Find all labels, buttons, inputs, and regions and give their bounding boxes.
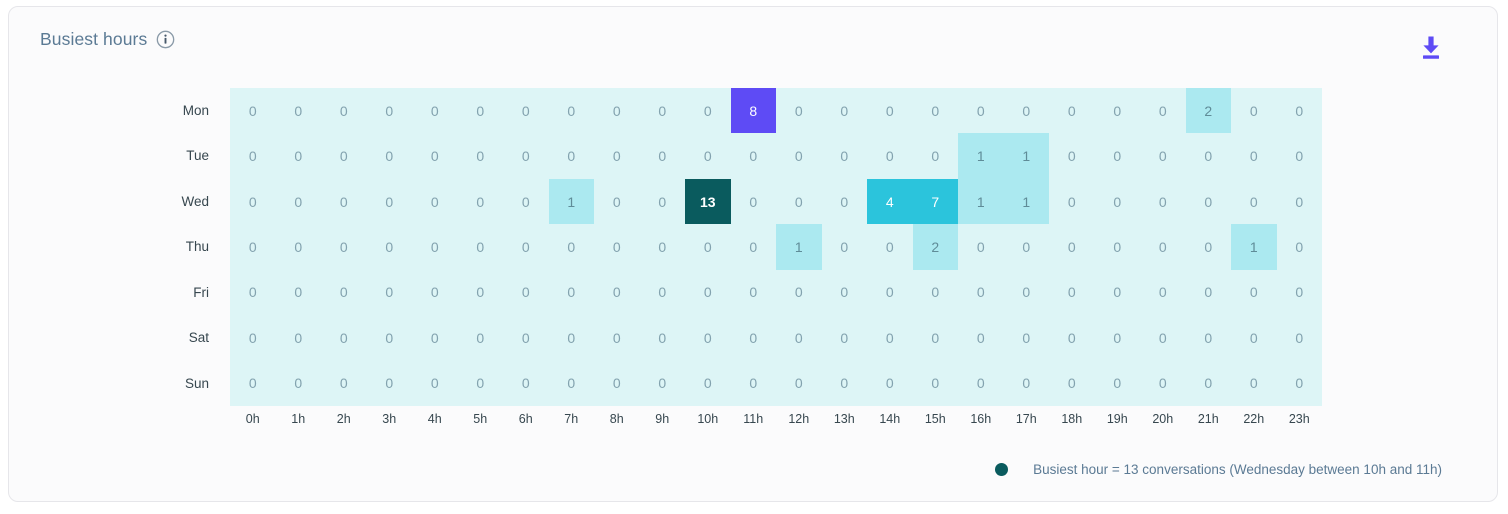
heatmap-cell[interactable]: 0 xyxy=(1140,270,1186,315)
x-axis-label: 15h xyxy=(913,409,959,433)
heatmap-cell[interactable]: 0 xyxy=(321,361,367,406)
heatmap-cell[interactable]: 0 xyxy=(1095,88,1141,133)
heatmap-cell[interactable]: 0 xyxy=(1231,179,1277,224)
heatmap-cell[interactable]: 0 xyxy=(458,179,504,224)
heatmap-cell[interactable]: 0 xyxy=(412,270,458,315)
heatmap-cell[interactable]: 0 xyxy=(1277,133,1323,178)
heatmap-cell[interactable]: 0 xyxy=(1049,224,1095,269)
heatmap-cell[interactable]: 0 xyxy=(1095,179,1141,224)
x-axis-label: 16h xyxy=(958,409,1004,433)
heatmap-cell[interactable]: 0 xyxy=(1140,179,1186,224)
heatmap-cell[interactable]: 0 xyxy=(731,224,777,269)
heatmap-cell[interactable]: 0 xyxy=(1277,315,1323,360)
x-axis-label: 14h xyxy=(867,409,913,433)
heatmap-cell[interactable]: 0 xyxy=(1095,361,1141,406)
heatmap-cell[interactable]: 0 xyxy=(685,224,731,269)
heatmap-cell[interactable]: 0 xyxy=(230,315,276,360)
heatmap-cell[interactable]: 0 xyxy=(412,315,458,360)
heatmap-cell[interactable]: 0 xyxy=(685,315,731,360)
heatmap-cell[interactable]: 0 xyxy=(1140,315,1186,360)
heatmap-cell[interactable]: 0 xyxy=(321,179,367,224)
heatmap-cell[interactable]: 0 xyxy=(458,133,504,178)
heatmap-cell[interactable]: 0 xyxy=(913,361,959,406)
x-axis-labels: 0h1h2h3h4h5h6h7h8h9h10h11h12h13h14h15h16… xyxy=(230,409,1322,433)
heatmap-cell[interactable]: 0 xyxy=(1095,133,1141,178)
heatmap-cell[interactable]: 0 xyxy=(503,133,549,178)
heatmap-cell[interactable]: 0 xyxy=(503,224,549,269)
heatmap-cell[interactable]: 0 xyxy=(640,88,686,133)
heatmap-cell[interactable]: 0 xyxy=(276,224,322,269)
download-button[interactable] xyxy=(1420,36,1442,60)
heatmap-cell[interactable]: 0 xyxy=(776,133,822,178)
x-axis-label: 0h xyxy=(230,409,276,433)
heatmap-cell[interactable]: 0 xyxy=(503,361,549,406)
y-axis-label: Tue xyxy=(159,133,209,178)
heatmap-cell[interactable]: 0 xyxy=(276,270,322,315)
heatmap-cell[interactable]: 0 xyxy=(1049,270,1095,315)
heatmap-cell[interactable]: 0 xyxy=(321,315,367,360)
heatmap-cell[interactable]: 0 xyxy=(776,270,822,315)
heatmap-cell[interactable]: 1 xyxy=(1004,179,1050,224)
heatmap-cell[interactable]: 0 xyxy=(1004,88,1050,133)
legend-label: Busiest hour = 13 conversations (Wednesd… xyxy=(1033,462,1442,477)
heatmap-cell[interactable]: 0 xyxy=(913,133,959,178)
heatmap-cell[interactable]: 0 xyxy=(276,315,322,360)
heatmap-cell[interactable]: 0 xyxy=(1095,270,1141,315)
heatmap-cell[interactable]: 0 xyxy=(458,224,504,269)
heatmap-cell[interactable]: 0 xyxy=(594,88,640,133)
heatmap-cell[interactable]: 0 xyxy=(776,88,822,133)
heatmap-cell[interactable]: 0 xyxy=(321,88,367,133)
heatmap-cell[interactable]: 0 xyxy=(822,179,868,224)
x-axis-label: 11h xyxy=(731,409,777,433)
heatmap-cell[interactable]: 0 xyxy=(776,361,822,406)
heatmap-cell[interactable]: 0 xyxy=(1095,315,1141,360)
heatmap-cell[interactable]: 0 xyxy=(594,133,640,178)
heatmap-cell[interactable]: 0 xyxy=(867,361,913,406)
heatmap-cell[interactable]: 0 xyxy=(958,361,1004,406)
heatmap-cell[interactable]: 0 xyxy=(958,88,1004,133)
heatmap-cell[interactable]: 0 xyxy=(1004,270,1050,315)
heatmap-cell[interactable]: 0 xyxy=(640,224,686,269)
heatmap-cell[interactable]: 0 xyxy=(1004,315,1050,360)
heatmap-cell[interactable]: 0 xyxy=(913,270,959,315)
x-axis-label: 9h xyxy=(640,409,686,433)
heatmap-cell[interactable]: 0 xyxy=(276,133,322,178)
heatmap-cell[interactable]: 0 xyxy=(276,179,322,224)
heatmap-cell[interactable]: 0 xyxy=(230,224,276,269)
heatmap-cell[interactable]: 0 xyxy=(1140,88,1186,133)
heatmap-cell[interactable]: 0 xyxy=(276,88,322,133)
heatmap: MonTueWedThuFriSatSun 000000000008000000… xyxy=(9,71,1497,451)
heatmap-cell[interactable]: 0 xyxy=(1186,361,1232,406)
heatmap-cell[interactable]: 0 xyxy=(958,224,1004,269)
heatmap-cell[interactable]: 0 xyxy=(822,88,868,133)
heatmap-cell[interactable]: 0 xyxy=(412,361,458,406)
card-header: Busiest hours xyxy=(9,7,1497,71)
heatmap-cell[interactable]: 0 xyxy=(230,361,276,406)
info-circle-icon[interactable] xyxy=(156,30,175,49)
x-axis-label: 13h xyxy=(822,409,868,433)
heatmap-cell[interactable]: 0 xyxy=(1231,315,1277,360)
heatmap-cell[interactable]: 0 xyxy=(1186,224,1232,269)
heatmap-cell[interactable]: 0 xyxy=(685,361,731,406)
heatmap-cell[interactable]: 0 xyxy=(1277,361,1323,406)
heatmap-cell[interactable]: 0 xyxy=(1140,133,1186,178)
heatmap-cell[interactable]: 0 xyxy=(1186,179,1232,224)
heatmap-cell[interactable]: 0 xyxy=(1231,361,1277,406)
heatmap-cell[interactable]: 0 xyxy=(1277,88,1323,133)
heatmap-cell[interactable]: 0 xyxy=(867,133,913,178)
heatmap-cell[interactable]: 0 xyxy=(1140,361,1186,406)
x-axis-label: 3h xyxy=(367,409,413,433)
x-axis-label: 22h xyxy=(1231,409,1277,433)
heatmap-cell[interactable]: 0 xyxy=(1049,315,1095,360)
title-group: Busiest hours xyxy=(40,29,175,50)
heatmap-cell[interactable]: 0 xyxy=(1231,88,1277,133)
x-axis-label: 12h xyxy=(776,409,822,433)
heatmap-cell[interactable]: 1 xyxy=(1004,133,1050,178)
heatmap-cell[interactable]: 0 xyxy=(640,133,686,178)
heatmap-cell[interactable]: 0 xyxy=(503,88,549,133)
heatmap-cell[interactable]: 1 xyxy=(1231,224,1277,269)
heatmap-cell[interactable]: 0 xyxy=(1049,88,1095,133)
heatmap-cell[interactable]: 0 xyxy=(549,133,595,178)
heatmap-cell[interactable]: 0 xyxy=(867,224,913,269)
heatmap-cell[interactable]: 0 xyxy=(1231,133,1277,178)
heatmap-cell[interactable]: 0 xyxy=(367,88,413,133)
heatmap-cell[interactable]: 0 xyxy=(1049,361,1095,406)
x-axis-label: 17h xyxy=(1004,409,1050,433)
heatmap-cell[interactable]: 0 xyxy=(1004,224,1050,269)
heatmap-cell[interactable]: 0 xyxy=(412,224,458,269)
y-axis-label: Wed xyxy=(159,179,209,224)
heatmap-cell[interactable]: 7 xyxy=(913,179,959,224)
heatmap-cell[interactable]: 0 xyxy=(731,361,777,406)
heatmap-cell[interactable]: 8 xyxy=(731,88,777,133)
y-axis-label: Sat xyxy=(159,315,209,360)
legend-dot-icon xyxy=(995,463,1008,476)
heatmap-cell[interactable]: 0 xyxy=(549,224,595,269)
heatmap-cell[interactable]: 0 xyxy=(549,270,595,315)
heatmap-cell[interactable]: 2 xyxy=(1186,88,1232,133)
heatmap-cell[interactable]: 0 xyxy=(731,315,777,360)
heatmap-cell[interactable]: 0 xyxy=(594,270,640,315)
heatmap-cell[interactable]: 0 xyxy=(685,270,731,315)
heatmap-cell[interactable]: 0 xyxy=(1277,224,1323,269)
x-axis-label: 7h xyxy=(549,409,595,433)
heatmap-grid: 0000000000080000000002000000000000000000… xyxy=(230,88,1322,406)
heatmap-cell[interactable]: 0 xyxy=(367,133,413,178)
heatmap-cell[interactable]: 0 xyxy=(867,270,913,315)
heatmap-cell[interactable]: 0 xyxy=(230,133,276,178)
heatmap-cell[interactable]: 0 xyxy=(1004,361,1050,406)
heatmap-cell[interactable]: 0 xyxy=(685,133,731,178)
x-axis-label: 1h xyxy=(276,409,322,433)
heatmap-cell[interactable]: 0 xyxy=(1277,270,1323,315)
heatmap-cell[interactable]: 0 xyxy=(867,88,913,133)
heatmap-cell[interactable]: 0 xyxy=(458,88,504,133)
heatmap-cell[interactable]: 0 xyxy=(731,179,777,224)
x-axis-label: 2h xyxy=(321,409,367,433)
heatmap-cell[interactable]: 0 xyxy=(321,133,367,178)
heatmap-cell[interactable]: 0 xyxy=(230,88,276,133)
heatmap-cell[interactable]: 0 xyxy=(913,88,959,133)
heatmap-cell[interactable]: 0 xyxy=(913,315,959,360)
heatmap-cell[interactable]: 0 xyxy=(503,179,549,224)
heatmap-cell[interactable]: 0 xyxy=(549,88,595,133)
heatmap-cell[interactable]: 0 xyxy=(822,133,868,178)
heatmap-cell[interactable]: 2 xyxy=(913,224,959,269)
heatmap-cell[interactable]: 0 xyxy=(1277,179,1323,224)
x-axis-label: 19h xyxy=(1095,409,1141,433)
heatmap-cell[interactable]: 0 xyxy=(367,224,413,269)
heatmap-cell[interactable]: 0 xyxy=(731,133,777,178)
heatmap-cell[interactable]: 0 xyxy=(822,315,868,360)
x-axis-label: 21h xyxy=(1186,409,1232,433)
legend: Busiest hour = 13 conversations (Wednesd… xyxy=(995,462,1442,477)
y-axis-label: Thu xyxy=(159,224,209,269)
heatmap-cell[interactable]: 0 xyxy=(640,361,686,406)
y-axis-label: Mon xyxy=(159,88,209,133)
page-title: Busiest hours xyxy=(40,29,147,50)
heatmap-cell[interactable]: 0 xyxy=(776,315,822,360)
heatmap-cell[interactable]: 0 xyxy=(1231,270,1277,315)
heatmap-cell[interactable]: 4 xyxy=(867,179,913,224)
y-axis-label: Sun xyxy=(159,361,209,406)
heatmap-cell[interactable]: 0 xyxy=(822,270,868,315)
heatmap-cell[interactable]: 0 xyxy=(640,179,686,224)
heatmap-cell[interactable]: 0 xyxy=(594,179,640,224)
heatmap-cell[interactable]: 1 xyxy=(776,224,822,269)
heatmap-cell[interactable]: 0 xyxy=(594,361,640,406)
heatmap-cell[interactable]: 0 xyxy=(503,270,549,315)
heatmap-cell[interactable]: 0 xyxy=(412,133,458,178)
heatmap-cell[interactable]: 0 xyxy=(958,270,1004,315)
heatmap-cell[interactable]: 0 xyxy=(276,361,322,406)
heatmap-cell[interactable]: 1 xyxy=(549,179,595,224)
heatmap-cell[interactable]: 0 xyxy=(367,315,413,360)
x-axis-label: 6h xyxy=(503,409,549,433)
heatmap-cell[interactable]: 0 xyxy=(685,88,731,133)
heatmap-cell[interactable]: 0 xyxy=(367,270,413,315)
heatmap-cell[interactable]: 0 xyxy=(458,270,504,315)
heatmap-cell[interactable]: 0 xyxy=(594,315,640,360)
heatmap-cell[interactable]: 0 xyxy=(230,270,276,315)
x-axis-label: 10h xyxy=(685,409,731,433)
heatmap-cell[interactable]: 0 xyxy=(867,315,913,360)
heatmap-cell[interactable]: 0 xyxy=(1186,133,1232,178)
heatmap-cell[interactable]: 0 xyxy=(367,179,413,224)
x-axis-label: 20h xyxy=(1140,409,1186,433)
heatmap-cell[interactable]: 0 xyxy=(1095,224,1141,269)
heatmap-cell[interactable]: 0 xyxy=(503,315,549,360)
heatmap-cell[interactable]: 0 xyxy=(230,179,276,224)
heatmap-cell[interactable]: 0 xyxy=(549,315,595,360)
heatmap-cell[interactable]: 1 xyxy=(958,133,1004,178)
heatmap-cell[interactable]: 0 xyxy=(412,88,458,133)
x-axis-label: 5h xyxy=(458,409,504,433)
heatmap-cell[interactable]: 13 xyxy=(685,179,731,224)
heatmap-cell[interactable]: 0 xyxy=(1049,133,1095,178)
heatmap-cell[interactable]: 0 xyxy=(594,224,640,269)
heatmap-cell[interactable]: 0 xyxy=(640,270,686,315)
heatmap-cell[interactable]: 0 xyxy=(458,315,504,360)
x-axis-label: 4h xyxy=(412,409,458,433)
heatmap-cell[interactable]: 0 xyxy=(367,361,413,406)
x-axis-label: 18h xyxy=(1049,409,1095,433)
y-axis-labels: MonTueWedThuFriSatSun xyxy=(159,88,209,406)
x-axis-label: 23h xyxy=(1277,409,1323,433)
heatmap-cell[interactable]: 0 xyxy=(958,315,1004,360)
heatmap-cell[interactable]: 0 xyxy=(1049,179,1095,224)
heatmap-cell[interactable]: 0 xyxy=(412,179,458,224)
heatmap-cell[interactable]: 0 xyxy=(1186,270,1232,315)
heatmap-cell[interactable]: 0 xyxy=(549,361,595,406)
heatmap-cell[interactable]: 0 xyxy=(458,361,504,406)
heatmap-cell[interactable]: 1 xyxy=(958,179,1004,224)
heatmap-cell[interactable]: 0 xyxy=(640,315,686,360)
x-axis-label: 8h xyxy=(594,409,640,433)
heatmap-cell[interactable]: 0 xyxy=(1186,315,1232,360)
heatmap-cell[interactable]: 0 xyxy=(822,224,868,269)
heatmap-cell[interactable]: 0 xyxy=(731,270,777,315)
busiest-hours-card: Busiest hours MonTueWedThuFriSatSun 0000… xyxy=(8,6,1498,502)
heatmap-cell[interactable]: 0 xyxy=(321,270,367,315)
y-axis-label: Fri xyxy=(159,270,209,315)
heatmap-cell[interactable]: 0 xyxy=(822,361,868,406)
heatmap-cell[interactable]: 0 xyxy=(321,224,367,269)
heatmap-cell[interactable]: 0 xyxy=(776,179,822,224)
heatmap-cell[interactable]: 0 xyxy=(1140,224,1186,269)
